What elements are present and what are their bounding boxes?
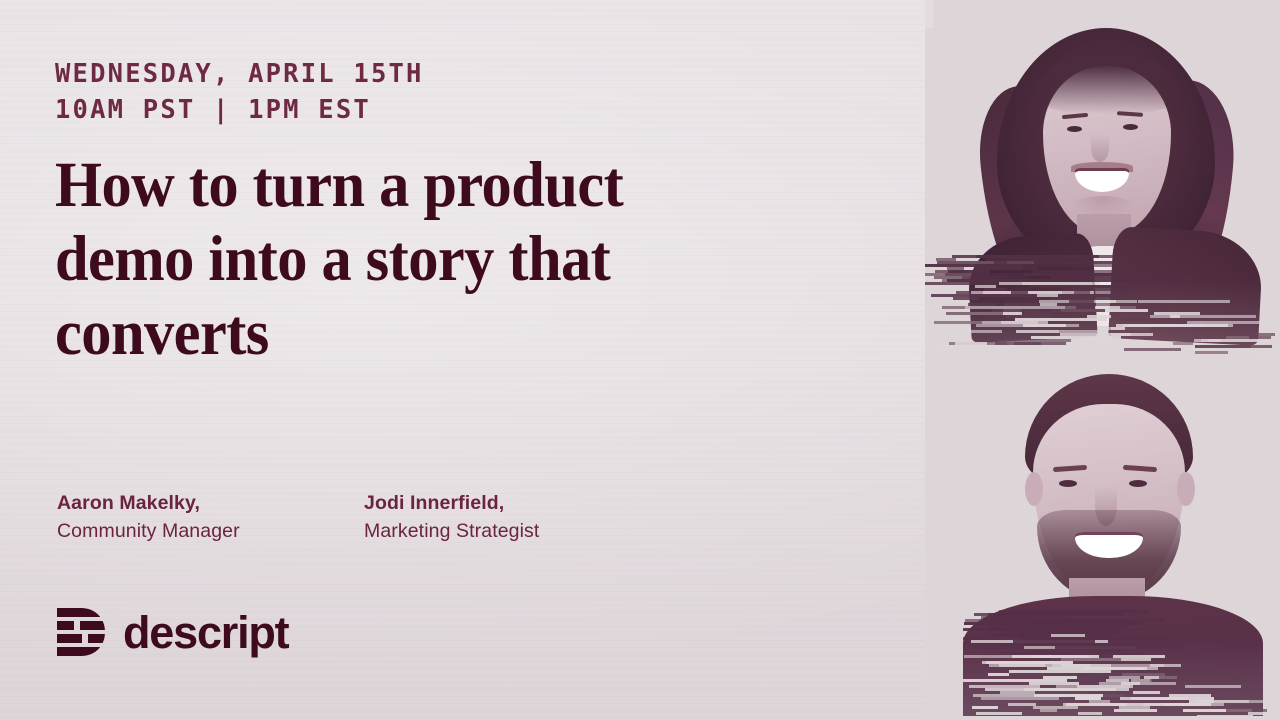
speaker-role: Marketing Strategist bbox=[364, 517, 671, 546]
speakers-list: Aaron Makelky, Community Manager Jodi In… bbox=[57, 490, 671, 546]
webinar-promo-slide: WEDNESDAY, APRIL 15TH 10AM PST | 1PM EST… bbox=[0, 0, 1280, 720]
speaker-entry-aaron: Aaron Makelky, Community Manager bbox=[57, 490, 364, 546]
speaker-name: Jodi Innerfield, bbox=[364, 490, 671, 517]
descript-logo: descript bbox=[55, 606, 288, 658]
portrait-woman bbox=[925, 0, 1280, 360]
descript-logo-mark-icon bbox=[55, 606, 107, 658]
speaker-role: Community Manager bbox=[57, 517, 364, 546]
speaker-name: Aaron Makelky, bbox=[57, 490, 364, 517]
speaker-photo-jodi-innerfield bbox=[925, 0, 1280, 360]
speaker-photo-aaron-makelky bbox=[925, 360, 1280, 720]
content-column: WEDNESDAY, APRIL 15TH 10AM PST | 1PM EST… bbox=[0, 0, 925, 720]
page-title: How to turn a product demo into a story … bbox=[55, 148, 762, 370]
speaker-entry-jodi: Jodi Innerfield, Marketing Strategist bbox=[364, 490, 671, 546]
event-datetime-eyebrow: WEDNESDAY, APRIL 15TH 10AM PST | 1PM EST bbox=[55, 56, 424, 128]
speaker-photos bbox=[925, 0, 1280, 720]
descript-wordmark: descript bbox=[123, 610, 288, 655]
portrait-man bbox=[925, 360, 1280, 720]
